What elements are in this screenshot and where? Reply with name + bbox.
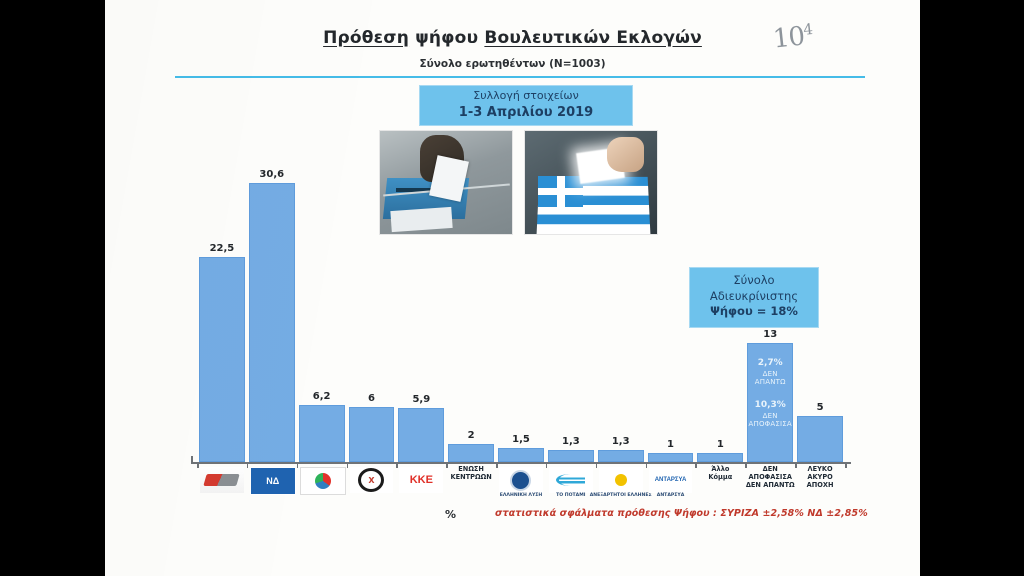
collection-label: Συλλογή στοιχείων	[420, 89, 632, 104]
handwritten-page-number-value: 10	[772, 22, 806, 55]
party-logo-syriza	[200, 467, 244, 493]
party-logo-mark	[204, 474, 241, 486]
bar-value-label: 1,3	[596, 436, 646, 447]
bar-series: 22,530,66,265,921,51,31,3112,7%ΔΕΝΑΠΑΝΤΩ…	[197, 170, 845, 462]
page-title-part2: ψήφου	[415, 28, 478, 48]
bar-value-label: 5,9	[396, 394, 446, 405]
party-logo-mark	[315, 473, 331, 489]
bar-6[interactable]	[448, 444, 494, 462]
bar-value-label: 6	[347, 393, 397, 404]
x-axis-end-cap	[191, 456, 193, 463]
party-logo-mark	[615, 474, 627, 486]
bar-slot: 5	[795, 170, 845, 462]
bar-slot: 1	[646, 170, 696, 462]
bar-4[interactable]	[349, 407, 395, 462]
bar-value-label: 1	[646, 439, 696, 450]
bar-value-label: 1,3	[546, 436, 596, 447]
bar-slot: 1,3	[596, 170, 646, 462]
handwritten-page-number: 104	[772, 20, 815, 55]
bar-value-label: 6,2	[297, 391, 347, 402]
party-logo-potami	[549, 467, 593, 493]
den-apanto-caption: ΔΕΝΑΠΑΝΤΩ	[748, 370, 792, 388]
axis-unit-label: %	[445, 508, 456, 521]
x-axis-label-ενωση-κεντρωων: ΕΝΩΣΗΚΕΝΤΡΩΩΝ	[435, 466, 507, 482]
bar-value-label: 30,6	[247, 169, 297, 180]
bar-13[interactable]	[797, 416, 843, 462]
bar-slot: 1,5	[496, 170, 546, 462]
bar-7[interactable]	[498, 448, 544, 462]
page-title-part1: Πρόθεση	[323, 28, 409, 48]
x-axis-labels: ΝΔΧΚΚΕΕΝΩΣΗΚΕΝΤΡΩΩΝΕΛΛΗΝΙΚΗ ΛΥΣΗΤΟ ΠΟΤΑΜ…	[197, 466, 845, 510]
party-logo-elliniki-lysi	[499, 467, 543, 493]
statistical-error-note: στατιστικά σφάλματα πρόθεσης Ψήφου : ΣΥΡ…	[495, 508, 915, 519]
bar-1[interactable]	[199, 257, 245, 462]
bar-10[interactable]	[648, 453, 694, 462]
bar-3[interactable]	[299, 405, 345, 462]
bar-slot: 5,9	[396, 170, 446, 462]
bar-value-label: 1,5	[496, 434, 546, 445]
page-title-part3: Βουλευτικών Εκλογών	[484, 28, 702, 48]
party-logo-mark: Χ	[358, 468, 384, 492]
party-logo-mark	[510, 470, 531, 491]
den-apanto-percent: 2,7%	[748, 358, 792, 369]
bar-value-label: 13	[745, 329, 795, 340]
den-apofasisa-caption: ΔΕΝΑΠΟΦΑΣΙΣΑ	[748, 412, 792, 430]
bar-slot: 1,3	[546, 170, 596, 462]
party-logo-mark: ΑΝΤΑΡΣΥΑ	[655, 477, 687, 483]
bar-slot: 2	[446, 170, 496, 462]
bar-segment-den-apanto: 2,7%ΔΕΝΑΠΑΝΤΩ	[748, 358, 792, 387]
screenshot-stage: Πρόθεση ψήφου Βουλευτικών Εκλογών Σύνολο…	[0, 0, 1024, 576]
bar-slot: 6	[347, 170, 397, 462]
letterbox-right	[920, 0, 1024, 576]
bar-11[interactable]	[697, 453, 743, 462]
hand-shape	[607, 137, 644, 172]
bar-value-label: 22,5	[197, 243, 247, 254]
party-logo-mark: ΝΔ	[266, 476, 279, 486]
bar-value-label: 2	[446, 430, 496, 441]
bar-slot: 30,6	[247, 170, 297, 462]
x-axis-label-λευκο-ακυρο-αποχη: ΛΕΥΚΟΑΚΥΡΟΑΠΟΧΗ	[784, 466, 856, 490]
bar-slot: 6,2	[297, 170, 347, 462]
page-subtitle: Σύνολο ερωτηθέντων (Ν=1003)	[105, 58, 920, 70]
bar-value-label: 5	[795, 402, 845, 413]
letterbox-left	[0, 0, 105, 576]
bar-segment-den-apofasisa: 10,3%ΔΕΝΑΠΟΦΑΣΙΣΑ	[748, 400, 792, 429]
party-logo-kinal	[300, 467, 346, 495]
party-logo-nd: ΝΔ	[250, 467, 296, 495]
bar-slot: 1	[695, 170, 745, 462]
collection-dates: 1-3 Απριλίου 2019	[420, 104, 632, 122]
handwritten-page-number-sup: 4	[802, 20, 812, 39]
x-axis-label-ανταρσυα: ΑΝΤΑΡΣΥΑ	[633, 493, 708, 499]
bar-9[interactable]	[598, 450, 644, 462]
den-apofasisa-percent: 10,3%	[748, 400, 792, 411]
party-logo-xrysi-avgi: Χ	[350, 467, 394, 493]
bar-slot: 2,7%ΔΕΝΑΠΑΝΤΩ10,3%ΔΕΝΑΠΟΦΑΣΙΣΑ13	[745, 170, 795, 462]
bar-8[interactable]	[548, 450, 594, 462]
x-axis-line	[191, 462, 851, 464]
collection-info-box: Συλλογή στοιχείων 1-3 Απριλίου 2019	[420, 86, 632, 125]
header-divider	[175, 76, 865, 78]
party-logo-mark: ΚΚΕ	[410, 474, 433, 486]
scanned-poll-page: Πρόθεση ψήφου Βουλευτικών Εκλογών Σύνολο…	[105, 0, 920, 576]
vote-intention-bar-chart: 22,530,66,265,921,51,31,3112,7%ΔΕΝΑΠΑΝΤΩ…	[197, 170, 845, 462]
bar-slot: 22,5	[197, 170, 247, 462]
party-logo-mark	[556, 474, 585, 486]
bar-value-label: 1	[695, 439, 745, 450]
party-logo-anel	[599, 467, 643, 493]
bar-12[interactable]: 2,7%ΔΕΝΑΠΑΝΤΩ10,3%ΔΕΝΑΠΟΦΑΣΙΣΑ	[747, 343, 793, 462]
bar-2[interactable]	[249, 183, 295, 462]
bar-5[interactable]	[398, 408, 444, 462]
